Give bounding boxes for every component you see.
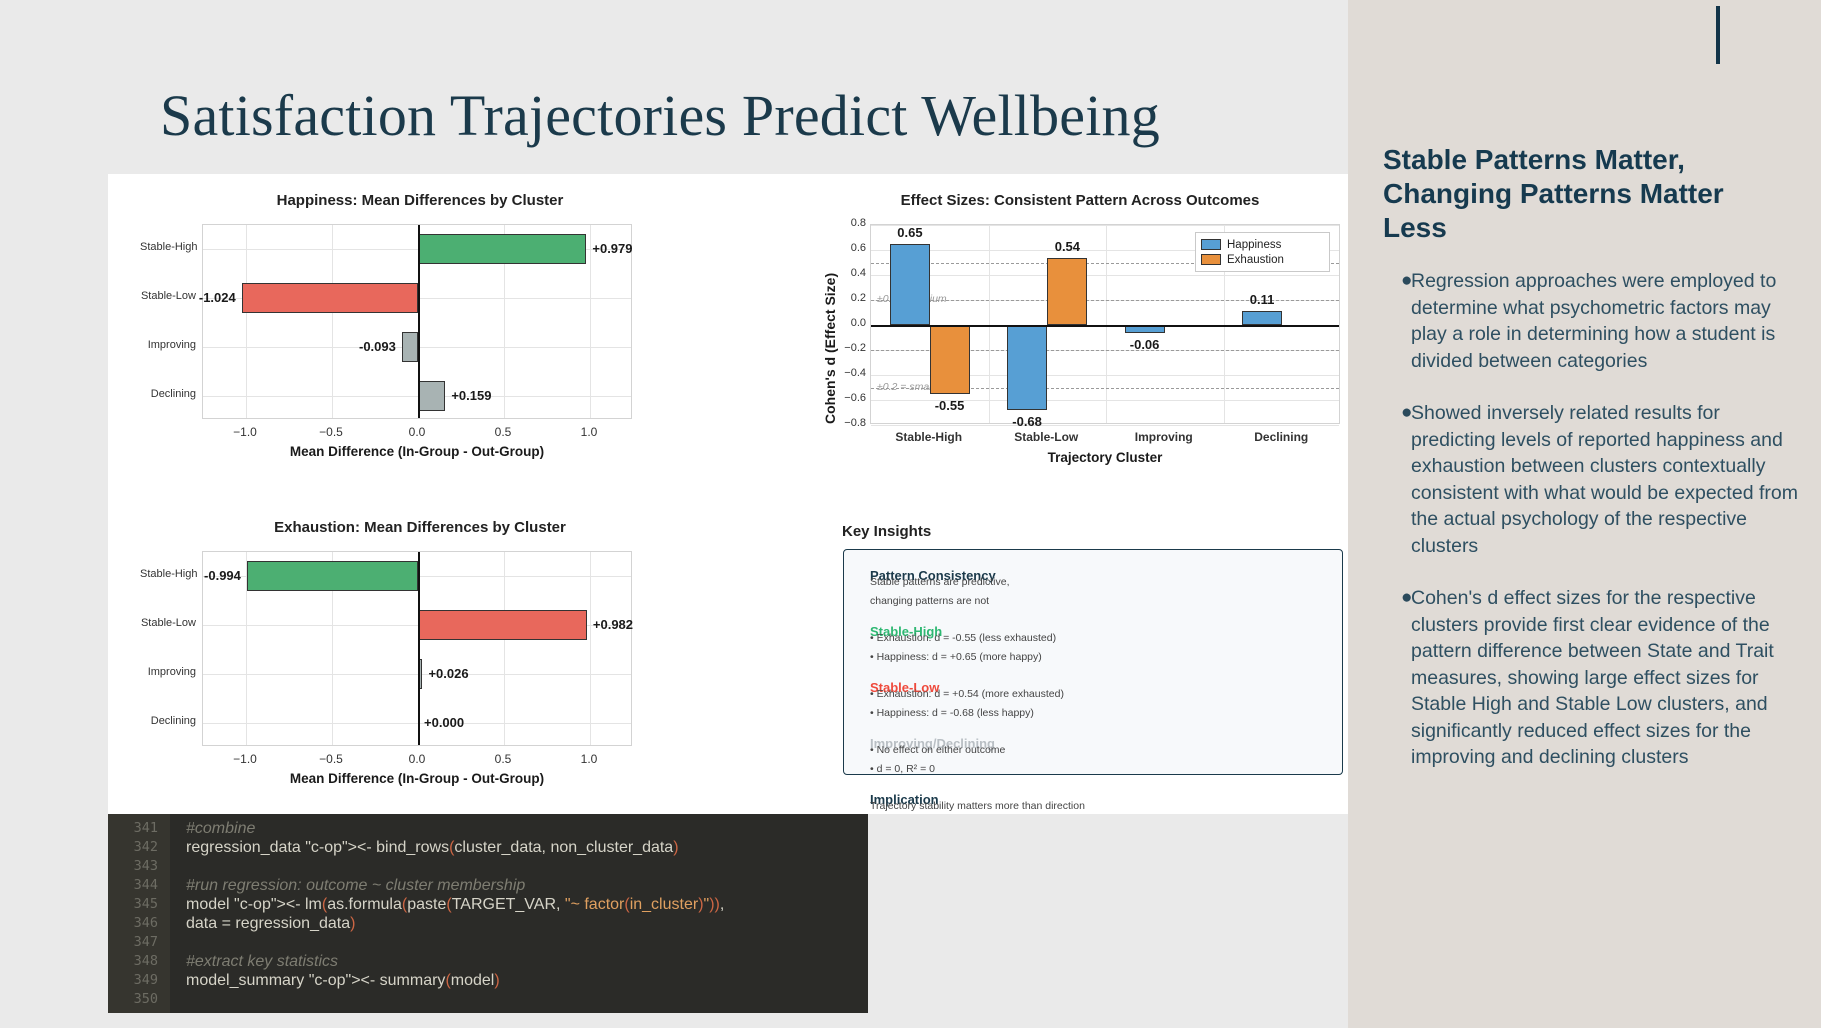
gridline-vertical (504, 552, 505, 745)
right-panel-bullet-list: ●Regression approaches were employed to … (1383, 268, 1803, 797)
x-tick-label: 0.0 (387, 752, 447, 766)
bar-happiness-improving (402, 332, 418, 362)
right-panel-bullet-text: Cohen's d effect sizes for the respectiv… (1411, 585, 1803, 771)
code-line-number: 342 (108, 839, 158, 855)
y-tick-label: −0.2 (834, 342, 866, 354)
code-line-number: 349 (108, 972, 158, 988)
chart-happiness-plot-area: +0.979-1.024-0.093+0.159 (202, 224, 632, 419)
accent-line-decoration (1716, 6, 1720, 64)
bar-value-label: +0.026 (428, 666, 468, 681)
key-insight-line: • Happiness: d = +0.65 (more happy) (870, 651, 1042, 663)
bar-exhaustion-stable-high (930, 325, 970, 394)
y-tick-label: Stable-High (140, 568, 196, 580)
gridline-horizontal (871, 225, 1339, 226)
x-tick-label: 0.0 (387, 425, 447, 439)
gridline-vertical (590, 552, 591, 745)
zero-line (871, 325, 1339, 327)
bar-value-label: +0.979 (592, 241, 632, 256)
chart-exhaustion-title: Exhaustion: Mean Differences by Cluster (140, 519, 700, 536)
y-tick-label: 0.6 (834, 242, 866, 254)
bar-value-label: +0.159 (451, 388, 491, 403)
x-tick-label: Declining (1221, 430, 1341, 444)
chart-happiness: Happiness: Mean Differences by Cluster +… (140, 192, 700, 482)
x-tick-label: −1.0 (215, 752, 275, 766)
zero-line (418, 552, 420, 745)
code-line-number: 346 (108, 915, 158, 931)
right-panel-bullet-text: Regression approaches were employed to d… (1411, 268, 1803, 374)
key-insight-line: • d = 0, R² = 0 (870, 763, 935, 775)
slide-canvas: Satisfaction Trajectories Predict Wellbe… (0, 0, 1821, 1028)
key-insight-line: • Exhaustion: d = -0.55 (less exhausted) (870, 632, 1056, 644)
legend-swatch-happiness (1201, 239, 1221, 250)
y-tick-label: −0.8 (834, 417, 866, 429)
y-tick-label: Stable-High (140, 241, 196, 253)
x-tick-label: 1.0 (559, 425, 619, 439)
gridline-vertical (590, 225, 591, 418)
slide-title: Satisfaction Trajectories Predict Wellbe… (160, 82, 1320, 149)
key-insight-line: Stable patterns are predictive, (870, 576, 1010, 588)
key-insight-line: changing patterns are not (870, 595, 989, 607)
key-insights-box: Pattern ConsistencyStable patterns are p… (843, 549, 1343, 775)
code-line-number: 347 (108, 934, 158, 950)
bullet-marker-icon: ● (1383, 268, 1411, 374)
code-line-number: 348 (108, 953, 158, 969)
right-panel-title: Stable Patterns Matter, Changing Pattern… (1383, 143, 1793, 245)
bar-value-label: -0.68 (1012, 414, 1042, 429)
right-panel-bullet: ●Regression approaches were employed to … (1383, 268, 1803, 374)
chart-exhaustion-plot-area: -0.994+0.982+0.026+0.000 (202, 551, 632, 746)
code-line-source: model_summary "c-op"><- summary(model) (186, 972, 500, 990)
bullet-marker-icon: ● (1383, 585, 1411, 771)
code-line-number: 343 (108, 858, 158, 874)
bar-happiness-stable-high (890, 244, 930, 325)
legend-label: Happiness (1227, 239, 1281, 251)
key-insight-line: • Happiness: d = -0.68 (less happy) (870, 707, 1034, 719)
bar-value-label: -0.093 (359, 339, 396, 354)
code-line-number: 341 (108, 820, 158, 836)
bar-value-label: 0.65 (897, 225, 922, 240)
y-tick-label: Improving (140, 339, 196, 351)
chart-effect-sizes-legend: HappinessExhaustion (1195, 232, 1330, 272)
bar-happiness-stable-high (418, 234, 586, 264)
code-comment: #combine (186, 820, 255, 837)
legend-row: Exhaustion (1201, 252, 1322, 267)
x-tick-label: 0.5 (473, 425, 533, 439)
bar-happiness-declining (1242, 311, 1282, 325)
bullet-marker-icon: ● (1383, 400, 1411, 559)
chart-effect-sizes: Effect Sizes: Consistent Pattern Across … (800, 192, 1360, 482)
chart-exhaustion: Exhaustion: Mean Differences by Cluster … (140, 519, 700, 809)
chart-happiness-x-axis-title: Mean Difference (In-Group - Out-Group) (202, 444, 632, 459)
gridline-vertical (1106, 225, 1107, 423)
chart-effect-sizes-x-axis-title: Trajectory Cluster (870, 450, 1340, 465)
legend-row: Happiness (1201, 237, 1322, 252)
y-tick-label: Stable-Low (140, 617, 196, 629)
chart-exhaustion-x-axis-title: Mean Difference (In-Group - Out-Group) (202, 771, 632, 786)
bar-value-label: -0.994 (204, 568, 241, 583)
gridline-horizontal (203, 396, 631, 397)
code-comment: #run regression: outcome ~ cluster membe… (186, 877, 525, 894)
bar-exhaustion-stable-low (418, 610, 587, 640)
code-line-source: #combine (186, 820, 255, 838)
code-line-source: model "c-op"><- lm(as.formula(paste(TARG… (186, 896, 724, 914)
y-tick-label: Improving (140, 666, 196, 678)
legend-label: Exhaustion (1227, 254, 1284, 266)
x-tick-label: Stable-High (869, 430, 989, 444)
gridline-horizontal (203, 723, 631, 724)
key-insights-heading: Key Insights (842, 523, 931, 540)
code-line-source: data = regression_data) (186, 915, 355, 933)
bar-value-label: +0.982 (593, 617, 633, 632)
right-panel-bullet: ●Showed inversely related results for pr… (1383, 400, 1803, 559)
y-tick-label: 0.2 (834, 292, 866, 304)
chart-happiness-title: Happiness: Mean Differences by Cluster (140, 192, 700, 209)
gridline-vertical (989, 225, 990, 423)
right-panel-bullet-text: Showed inversely related results for pre… (1411, 400, 1803, 559)
chart-effect-sizes-title: Effect Sizes: Consistent Pattern Across … (800, 192, 1360, 209)
y-tick-label: Declining (140, 388, 196, 400)
bar-happiness-declining (418, 381, 445, 411)
x-tick-label: 0.5 (473, 752, 533, 766)
gridline-horizontal (203, 674, 631, 675)
x-tick-label: −0.5 (301, 752, 361, 766)
gridline-horizontal (871, 275, 1339, 276)
x-tick-label: −1.0 (215, 425, 275, 439)
x-tick-label: −0.5 (301, 425, 361, 439)
bar-value-label: -0.55 (935, 398, 965, 413)
key-insight-line: • No effect on either outcome (870, 744, 1005, 756)
threshold-label: ±0.2 = small (877, 381, 934, 393)
gridline-vertical (332, 225, 333, 418)
gridline-horizontal (871, 425, 1339, 426)
key-insight-line: Trajectory stability matters more than d… (870, 800, 1085, 812)
y-tick-label: 0.0 (834, 317, 866, 329)
bar-happiness-stable-low (242, 283, 418, 313)
x-tick-label: Improving (1104, 430, 1224, 444)
code-line-source: regression_data "c-op"><- bind_rows(clus… (186, 839, 679, 857)
code-line-number: 345 (108, 896, 158, 912)
key-insight-line: • Exhaustion: d = +0.54 (more exhausted) (870, 688, 1064, 700)
y-tick-label: 0.4 (834, 267, 866, 279)
bar-value-label: 0.11 (1250, 292, 1275, 307)
bar-value-label: +0.000 (424, 715, 464, 730)
bar-happiness-stable-low (1007, 325, 1047, 410)
legend-swatch-exhaustion (1201, 254, 1221, 265)
bar-value-label: -1.024 (199, 290, 236, 305)
x-tick-label: Stable-Low (986, 430, 1106, 444)
y-tick-label: −0.4 (834, 367, 866, 379)
bar-exhaustion-stable-low (1047, 258, 1087, 326)
code-line-number: 350 (108, 991, 158, 1007)
x-tick-label: 1.0 (559, 752, 619, 766)
y-tick-label: 0.8 (834, 217, 866, 229)
code-line-source: #run regression: outcome ~ cluster membe… (186, 877, 525, 895)
y-tick-label: −0.6 (834, 392, 866, 404)
bar-value-label: -0.06 (1130, 337, 1160, 352)
zero-line (418, 225, 420, 418)
code-block: 341#combine342regression_data "c-op"><- … (108, 814, 868, 1013)
code-comment: #extract key statistics (186, 953, 338, 970)
gridline-vertical (246, 225, 247, 418)
right-panel-bullet: ●Cohen's d effect sizes for the respecti… (1383, 585, 1803, 771)
y-tick-label: Declining (140, 715, 196, 727)
y-tick-label: Stable-Low (140, 290, 196, 302)
bar-exhaustion-stable-high (247, 561, 418, 591)
bar-value-label: 0.54 (1055, 239, 1080, 254)
code-line-number: 344 (108, 877, 158, 893)
code-line-source: #extract key statistics (186, 953, 338, 971)
